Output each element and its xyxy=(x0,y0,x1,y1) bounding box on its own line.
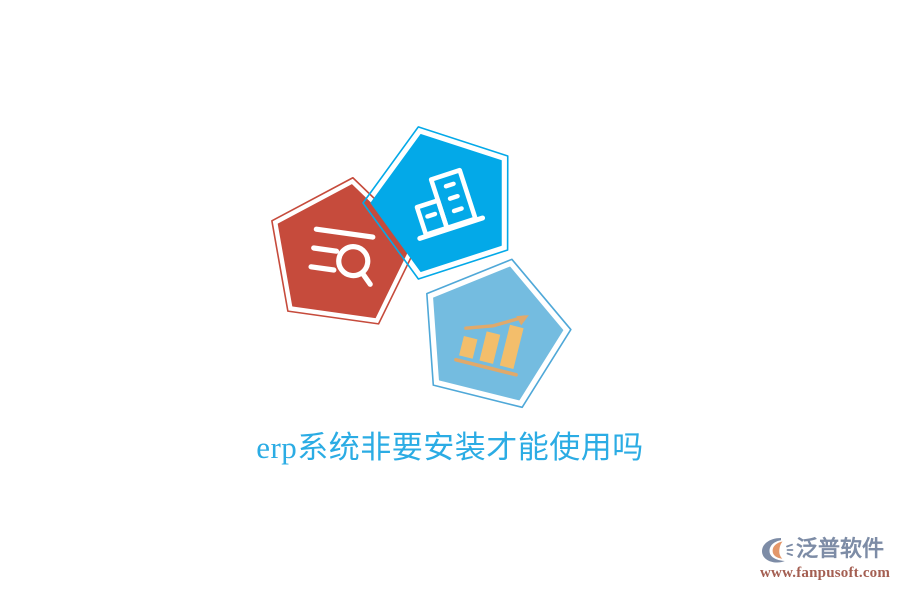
watermark-brand-row: 泛普软件 xyxy=(760,534,892,566)
watermark-url-text: www.fanpusoft.com xyxy=(760,565,892,582)
watermark: 泛普软件 www.fanpusoft.com xyxy=(760,534,892,590)
pentagon-cluster-graphic xyxy=(280,110,590,430)
fanpu-logo-icon xyxy=(760,535,794,565)
pentagon-building xyxy=(280,110,590,430)
watermark-brand-text: 泛普软件 xyxy=(796,535,884,565)
page-root: erp系统非要安装才能使用吗 泛普软件 www.fanpusoft.com xyxy=(0,0,900,600)
page-title: erp系统非要安装才能使用吗 xyxy=(0,425,900,471)
pentagon-building-body xyxy=(356,113,527,279)
